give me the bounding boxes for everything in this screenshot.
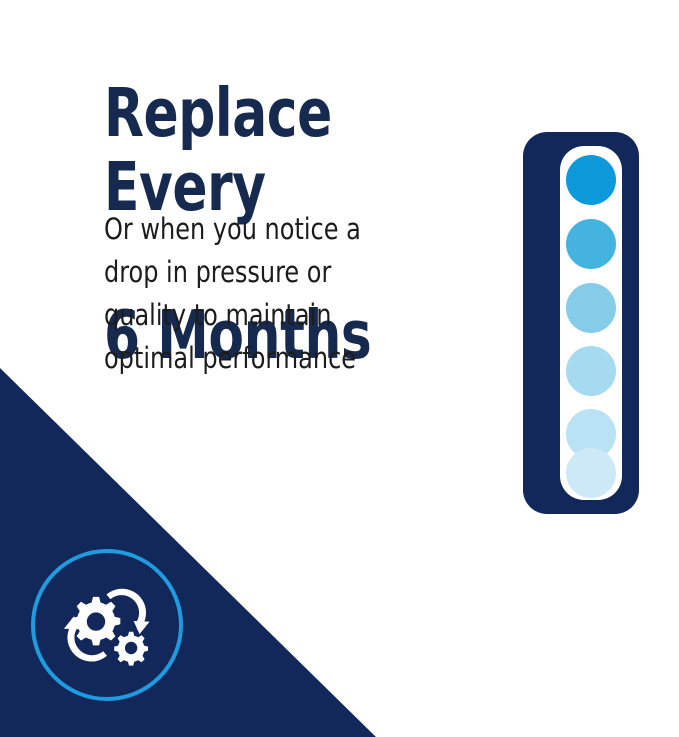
description-line-1: Or when you notice a [104,208,426,251]
infographic-canvas: Replace Every 6 Months Or when you notic… [0,0,679,737]
gears-refresh-cycle-icon [64,589,150,666]
water-filter-cartridge [513,128,649,518]
page-title-line-1: Replace Every [104,76,508,224]
description-line-2: drop in pressure or [104,251,426,294]
cartridge-dot [566,346,616,396]
cartridge-dot [566,283,616,333]
cartridge-dot [566,448,616,498]
maintenance-cycle-badge [23,541,191,709]
description-line-3: quality to maintain [104,294,426,337]
description-line-4: optimal performance [104,337,426,380]
cartridge-dot [566,219,616,269]
cartridge-dot [566,155,616,205]
description-text: Or when you notice a drop in pressure or… [104,208,426,380]
